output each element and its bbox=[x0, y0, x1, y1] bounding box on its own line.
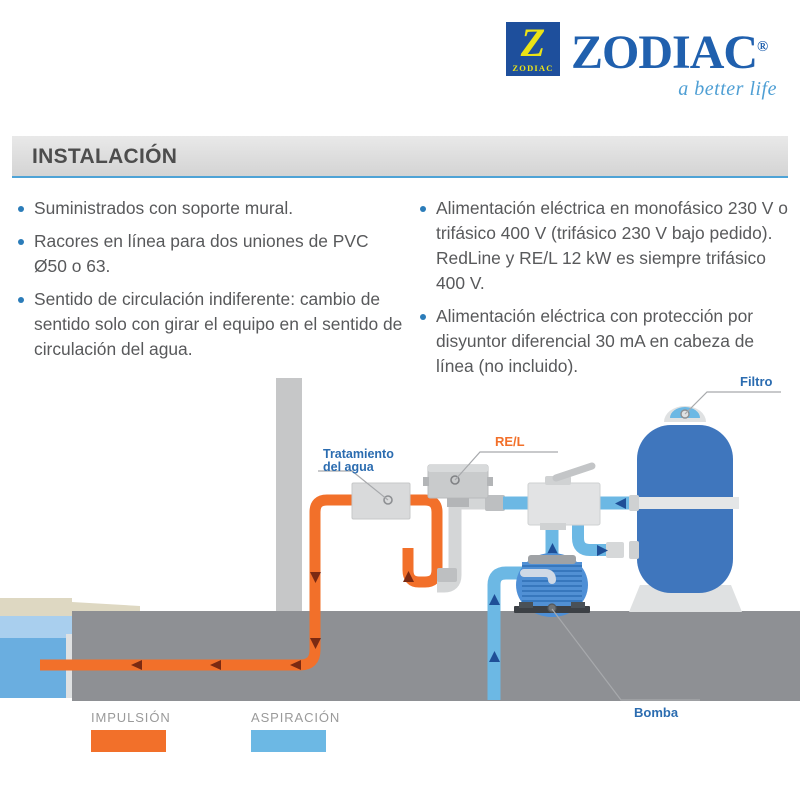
zodiac-logo: Z ZODIAC ZODIAC® a better life bbox=[506, 22, 781, 100]
multiport-valve-bottom bbox=[540, 523, 566, 530]
label-treatment-line1: Tratamiento bbox=[323, 447, 394, 461]
legend-label-impulsion: IMPULSIÓN bbox=[91, 710, 171, 725]
legend-item-impulsion: IMPULSIÓN bbox=[91, 710, 171, 752]
zodiac-tagline: a better life bbox=[678, 78, 777, 101]
legend-item-aspiracion: ASPIRACIÓN bbox=[251, 710, 340, 752]
zodiac-wordmark: ZODIAC® bbox=[571, 22, 768, 78]
rel-unit-side-nub-left bbox=[423, 477, 429, 486]
pump-foot-right bbox=[571, 602, 585, 608]
zodiac-wordmark-text: ZODIAC bbox=[571, 26, 757, 79]
zodiac-z-glyph: Z bbox=[509, 25, 557, 63]
filter-inlet-nub bbox=[629, 495, 639, 511]
zodiac-logo-mark: Z ZODIAC bbox=[506, 22, 560, 76]
label-treatment-line2: del agua bbox=[323, 460, 375, 474]
zodiac-mark-word: ZODIAC bbox=[506, 63, 560, 73]
bullet-list-left: Suministrados con soporte mural. Racores… bbox=[14, 196, 406, 362]
pump-top-collar bbox=[528, 555, 576, 564]
pool-water-surface bbox=[0, 616, 72, 638]
legend-label-aspiracion: ASPIRACIÓN bbox=[251, 710, 340, 725]
registered-mark: ® bbox=[757, 39, 768, 55]
pipe-union-return bbox=[606, 542, 624, 558]
list-item: Suministrados con soporte mural. bbox=[14, 196, 406, 221]
installation-page: Z ZODIAC ZODIAC® a better life INSTALACI… bbox=[0, 0, 800, 800]
multiport-valve-body bbox=[528, 483, 600, 525]
wall-pillar bbox=[276, 378, 302, 611]
list-item: Alimentación eléctrica con protección po… bbox=[416, 304, 796, 379]
bullet-column-right: Alimentación eléctrica en monofásico 230… bbox=[416, 196, 796, 387]
impulsion-pipe-right bbox=[408, 500, 437, 582]
pump-port bbox=[548, 604, 556, 612]
filter-outlet-nub bbox=[629, 541, 639, 559]
pool-deck-block bbox=[0, 598, 72, 616]
page-title: INSTALACIÓN bbox=[32, 145, 177, 169]
installation-diagram: Tratamiento del agua RE/L bbox=[0, 370, 800, 730]
pump-foot-left bbox=[519, 602, 533, 608]
section-header: INSTALACIÓN bbox=[12, 136, 788, 178]
bullet-list-right: Alimentación eléctrica en monofásico 230… bbox=[416, 196, 796, 379]
ground bbox=[72, 611, 800, 701]
label-filter: Filtro bbox=[740, 374, 773, 389]
list-item: Sentido de circulación indiferente: camb… bbox=[14, 287, 406, 362]
rel-unit-side-nub-right bbox=[487, 477, 493, 486]
list-item: Alimentación eléctrica en monofásico 230… bbox=[416, 196, 796, 296]
pipe-union-left bbox=[437, 568, 457, 582]
legend-swatch-impulsion bbox=[91, 730, 166, 752]
label-rel: RE/L bbox=[495, 434, 525, 449]
rel-unit-base bbox=[447, 498, 469, 507]
valve-handle bbox=[556, 466, 592, 478]
filter-band bbox=[631, 497, 739, 509]
bullet-column-left: Suministrados con soporte mural. Racores… bbox=[14, 196, 406, 370]
water-treatment-unit bbox=[352, 483, 410, 519]
diagram-legend: IMPULSIÓN ASPIRACIÓN bbox=[0, 706, 800, 766]
rel-unit-top bbox=[428, 465, 488, 472]
list-item: Racores en línea para dos uniones de PVC… bbox=[14, 229, 406, 279]
legend-swatch-aspiracion bbox=[251, 730, 326, 752]
